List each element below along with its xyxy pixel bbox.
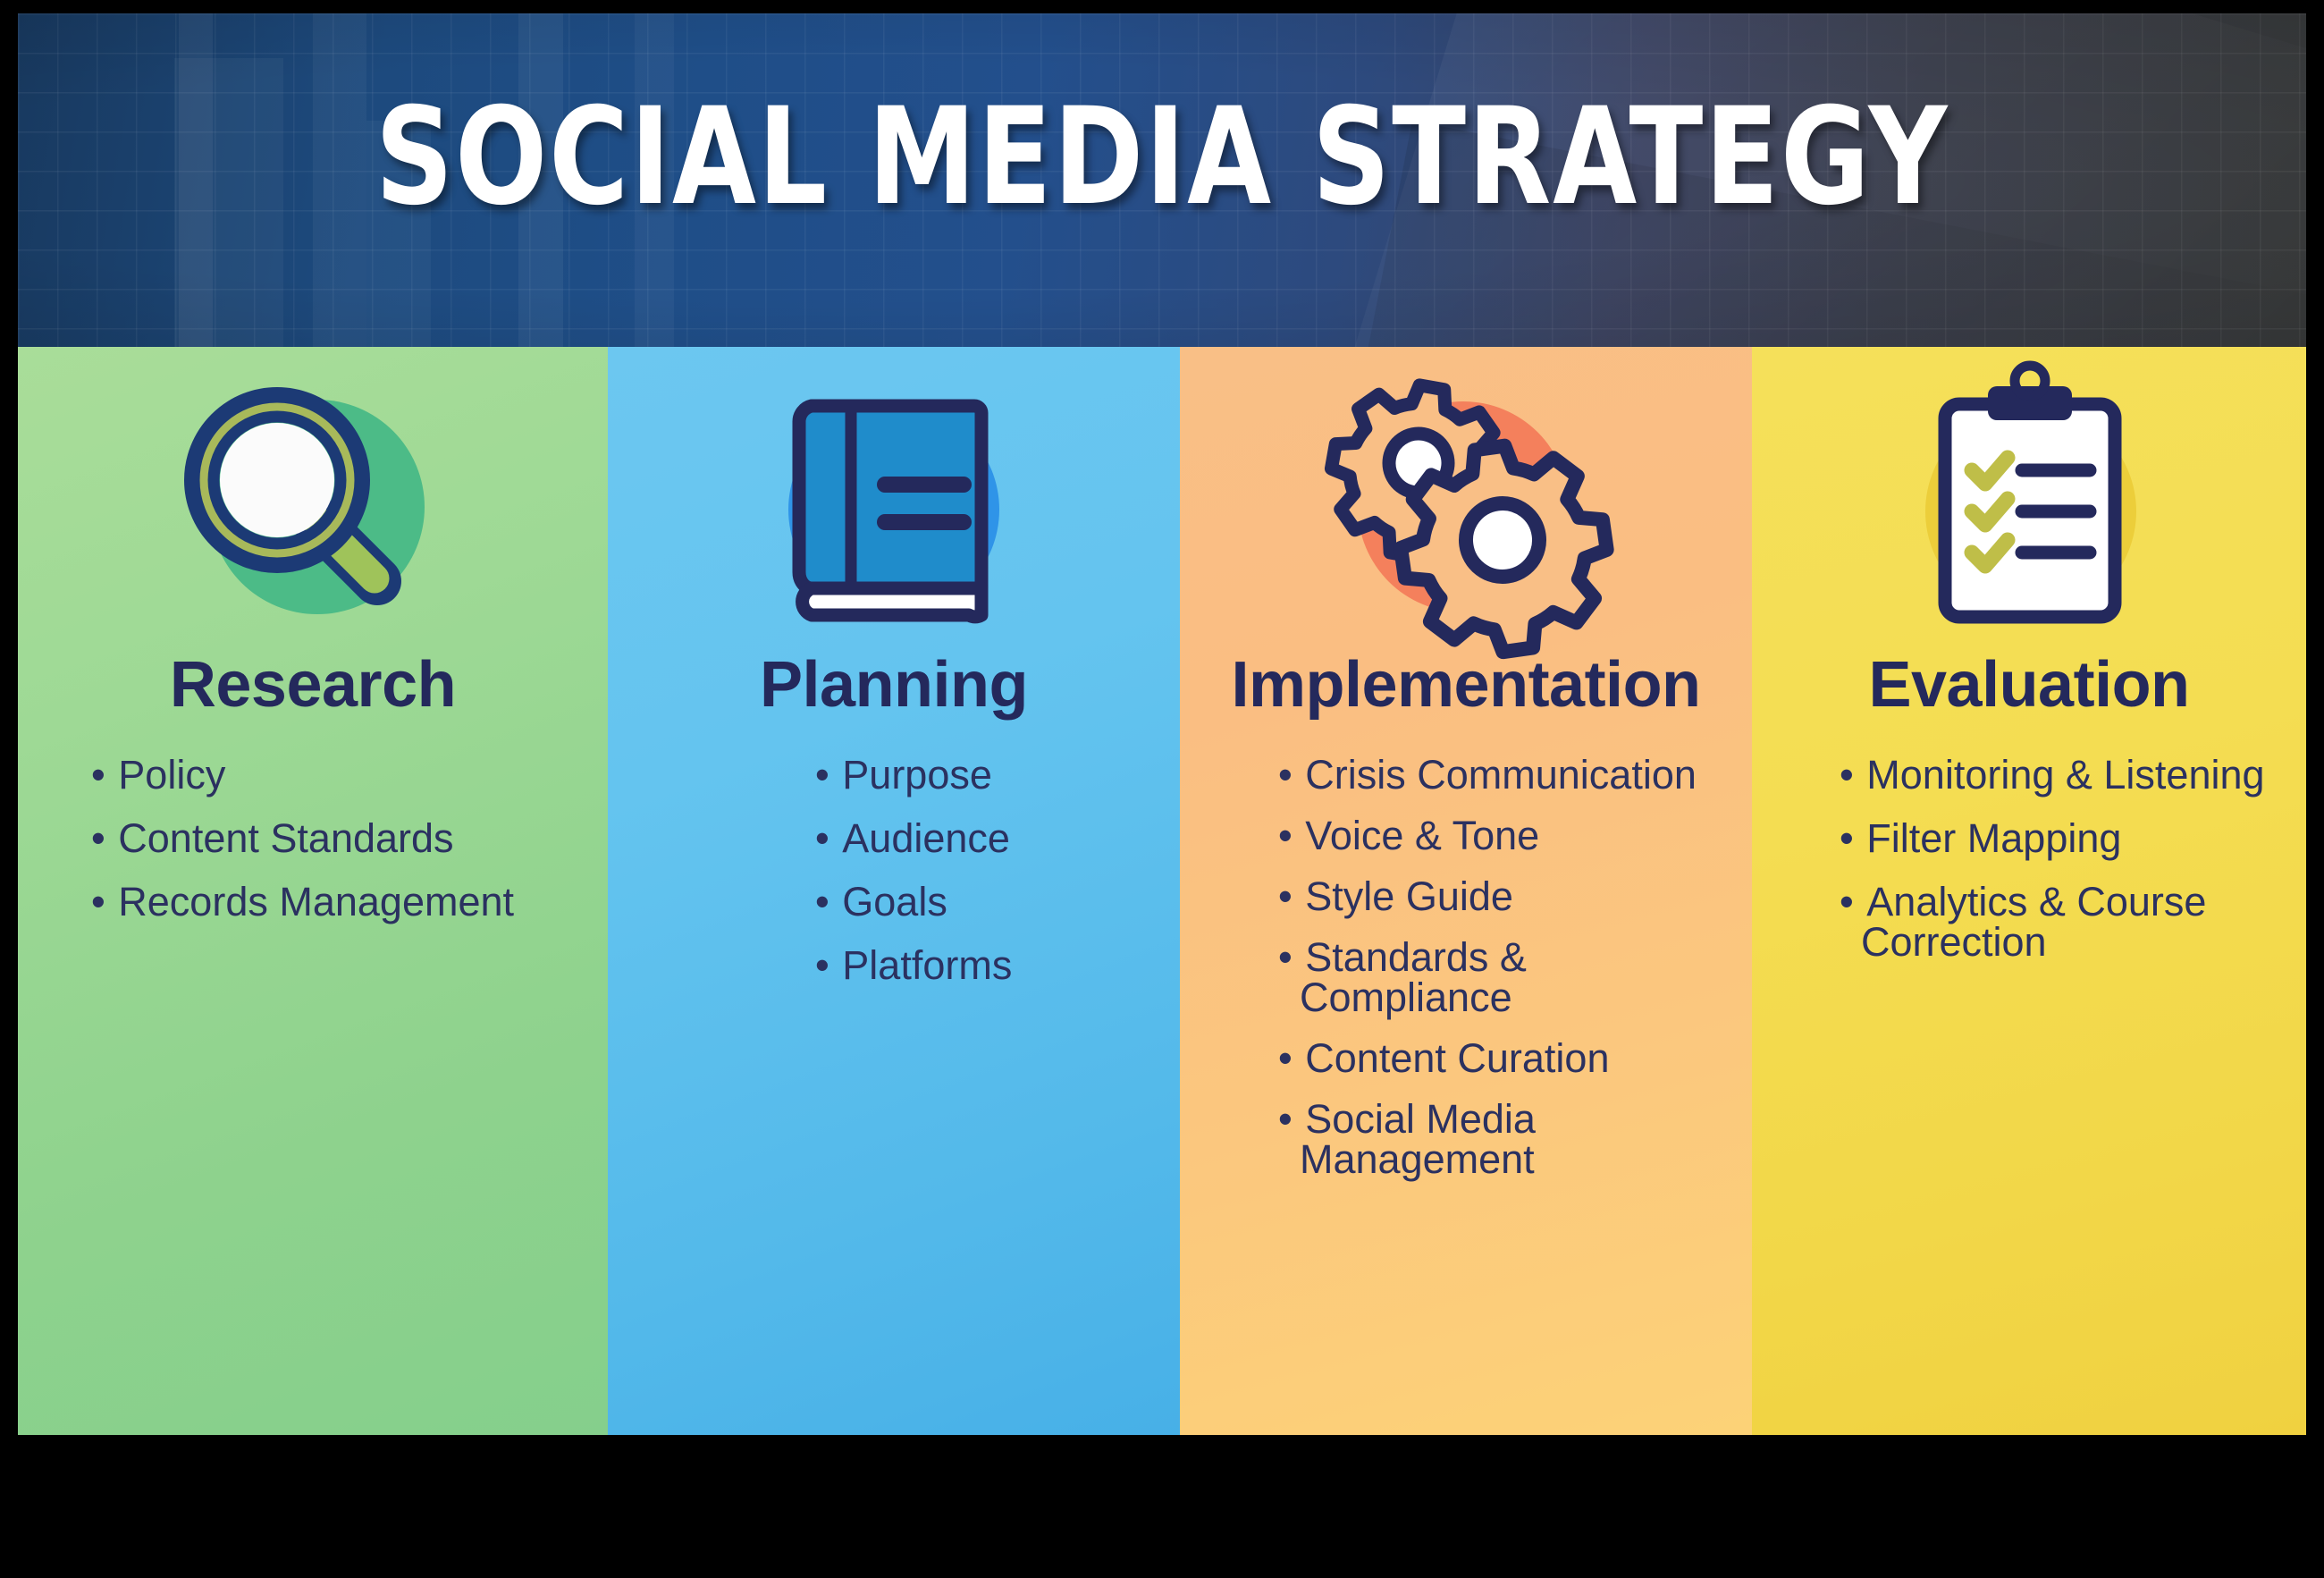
column-title-research: Research — [170, 653, 456, 717]
header-banner: SOCIAL MEDIA STRATEGY — [18, 13, 2306, 347]
bullet-text: Crisis Communication — [1303, 752, 1697, 797]
list-item: • Content Standards — [91, 818, 588, 858]
list-item: • Crisis Communication — [1278, 755, 1732, 795]
column-title-planning: Planning — [760, 653, 1028, 717]
list-item: • Voice & Tone — [1278, 815, 1732, 856]
bullet-text: Social Media Management — [1300, 1096, 1536, 1182]
list-item: • Platforms — [815, 945, 1160, 985]
bullet-list-implementation: • Crisis Communication • Voice & Tone • … — [1180, 755, 1752, 1200]
bullet-marker: • — [1278, 1096, 1293, 1142]
bullet-marker: • — [91, 815, 105, 861]
bullet-marker: • — [1840, 879, 1854, 924]
list-item: • Audience — [815, 818, 1160, 858]
column-research[interactable]: Research • Policy • Content Standards • … — [18, 347, 608, 1435]
list-item: • Filter Mapping — [1840, 818, 2286, 858]
bullet-text: Content Standards — [116, 815, 453, 861]
bullet-text: Content Curation — [1303, 1035, 1609, 1081]
list-item: • Social Media Management — [1278, 1099, 1732, 1179]
bullet-marker: • — [1278, 813, 1293, 858]
list-item: • Purpose — [815, 755, 1160, 795]
bullet-text: Goals — [840, 879, 947, 924]
bullet-text: Standards & Compliance — [1300, 934, 1527, 1020]
list-item: • Content Curation — [1278, 1038, 1732, 1078]
column-implementation[interactable]: Implementation • Crisis Communication • … — [1180, 347, 1752, 1435]
book-icon — [733, 377, 1055, 637]
bullet-text: Monitoring & Listening — [1865, 752, 2264, 797]
bullet-marker: • — [91, 752, 105, 797]
bullet-list-planning: • Purpose • Audience • Goals • Platforms — [608, 755, 1180, 1008]
magnifying-glass-icon — [152, 377, 474, 637]
bullet-list-research: • Policy • Content Standards • Records M… — [18, 755, 608, 945]
column-title-implementation: Implementation — [1231, 653, 1700, 717]
bullet-marker: • — [1278, 934, 1293, 980]
bullet-marker: • — [815, 879, 829, 924]
bullet-marker: • — [1278, 752, 1293, 797]
bullet-marker: • — [1840, 815, 1854, 861]
bullet-marker: • — [1840, 752, 1854, 797]
column-planning[interactable]: Planning • Purpose • Audience • Goals • … — [608, 347, 1180, 1435]
bullet-marker: • — [815, 815, 829, 861]
bullet-text: Style Guide — [1303, 873, 1513, 919]
bullet-text: Purpose — [840, 752, 992, 797]
bullet-text: Voice & Tone — [1303, 813, 1539, 858]
infographic-canvas: SOCIAL MEDIA STRATEGY Research — [18, 13, 2306, 1435]
bullet-marker: • — [1278, 873, 1293, 919]
list-item: • Policy — [91, 755, 588, 795]
clipboard-checklist-icon — [1868, 377, 2190, 637]
list-item: • Goals — [815, 882, 1160, 922]
page-title: SOCIAL MEDIA STRATEGY — [132, 90, 2192, 224]
bullet-text: Audience — [840, 815, 1010, 861]
list-item: • Analytics & Course Correction — [1840, 882, 2286, 962]
column-title-evaluation: Evaluation — [1868, 653, 2189, 717]
bullet-marker: • — [815, 942, 829, 988]
list-item: • Monitoring & Listening — [1840, 755, 2286, 795]
bullet-text: Records Management — [116, 879, 514, 924]
list-item: • Records Management — [91, 882, 588, 922]
column-evaluation[interactable]: Evaluation • Monitoring & Listening • Fi… — [1752, 347, 2306, 1435]
columns-container: Research • Policy • Content Standards • … — [18, 347, 2306, 1435]
bullet-text: Filter Mapping — [1865, 815, 2121, 861]
list-item: • Standards & Compliance — [1278, 937, 1732, 1017]
bullet-list-evaluation: • Monitoring & Listening • Filter Mappin… — [1752, 755, 2306, 985]
bullet-marker: • — [91, 879, 105, 924]
bullet-marker: • — [1278, 1035, 1293, 1081]
bullet-text: Platforms — [840, 942, 1012, 988]
bullet-text: Analytics & Course Correction — [1861, 879, 2206, 965]
bullet-text: Policy — [116, 752, 225, 797]
list-item: • Style Guide — [1278, 876, 1732, 916]
gears-icon — [1305, 377, 1627, 637]
bullet-marker: • — [815, 752, 829, 797]
